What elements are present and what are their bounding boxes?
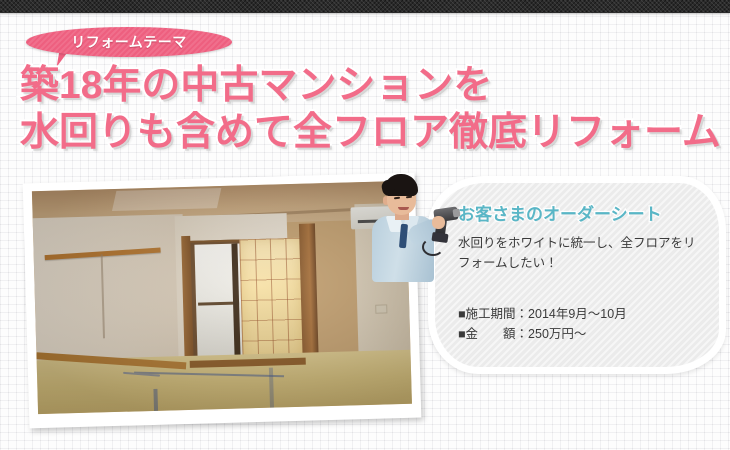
badge-label: リフォームテーマ — [26, 27, 232, 57]
headline-line-2: 水回りも含めて全フロア徹底リフォーム！ — [20, 109, 720, 156]
order-sheet-title: お客さまのオーダーシート — [458, 200, 662, 225]
theme-badge: リフォームテーマ — [26, 27, 232, 61]
top-carbon-bar — [0, 0, 730, 13]
page-root: リフォームテーマ 築18年の中古マンションを 水回りも含めて全フロア徹底リフォー… — [0, 0, 730, 450]
order-sheet-specs: ■施工期間：2014年9月〜10月 ■金 額：250万円〜 — [458, 304, 708, 344]
page-title: 築18年の中古マンションを 水回りも含めて全フロア徹底リフォーム！ — [20, 62, 720, 156]
headline-line-1: 築18年の中古マンションを — [20, 62, 720, 109]
spec-period: ■施工期間：2014年9月〜10月 — [458, 304, 708, 324]
worker-hand — [432, 216, 445, 229]
order-sheet-description: 水回りをホワイトに統一し、全フロアをリフォームしたい！ — [458, 233, 698, 273]
worker-mouth — [398, 207, 409, 210]
worker-cutout — [352, 172, 458, 282]
drill-chuck-icon — [452, 209, 460, 218]
spec-price: ■金 額：250万円〜 — [458, 324, 708, 344]
order-sheet-panel: お客さまのオーダーシート 水回りをホワイトに統一し、全フロアをリフォームしたい！… — [428, 176, 726, 374]
